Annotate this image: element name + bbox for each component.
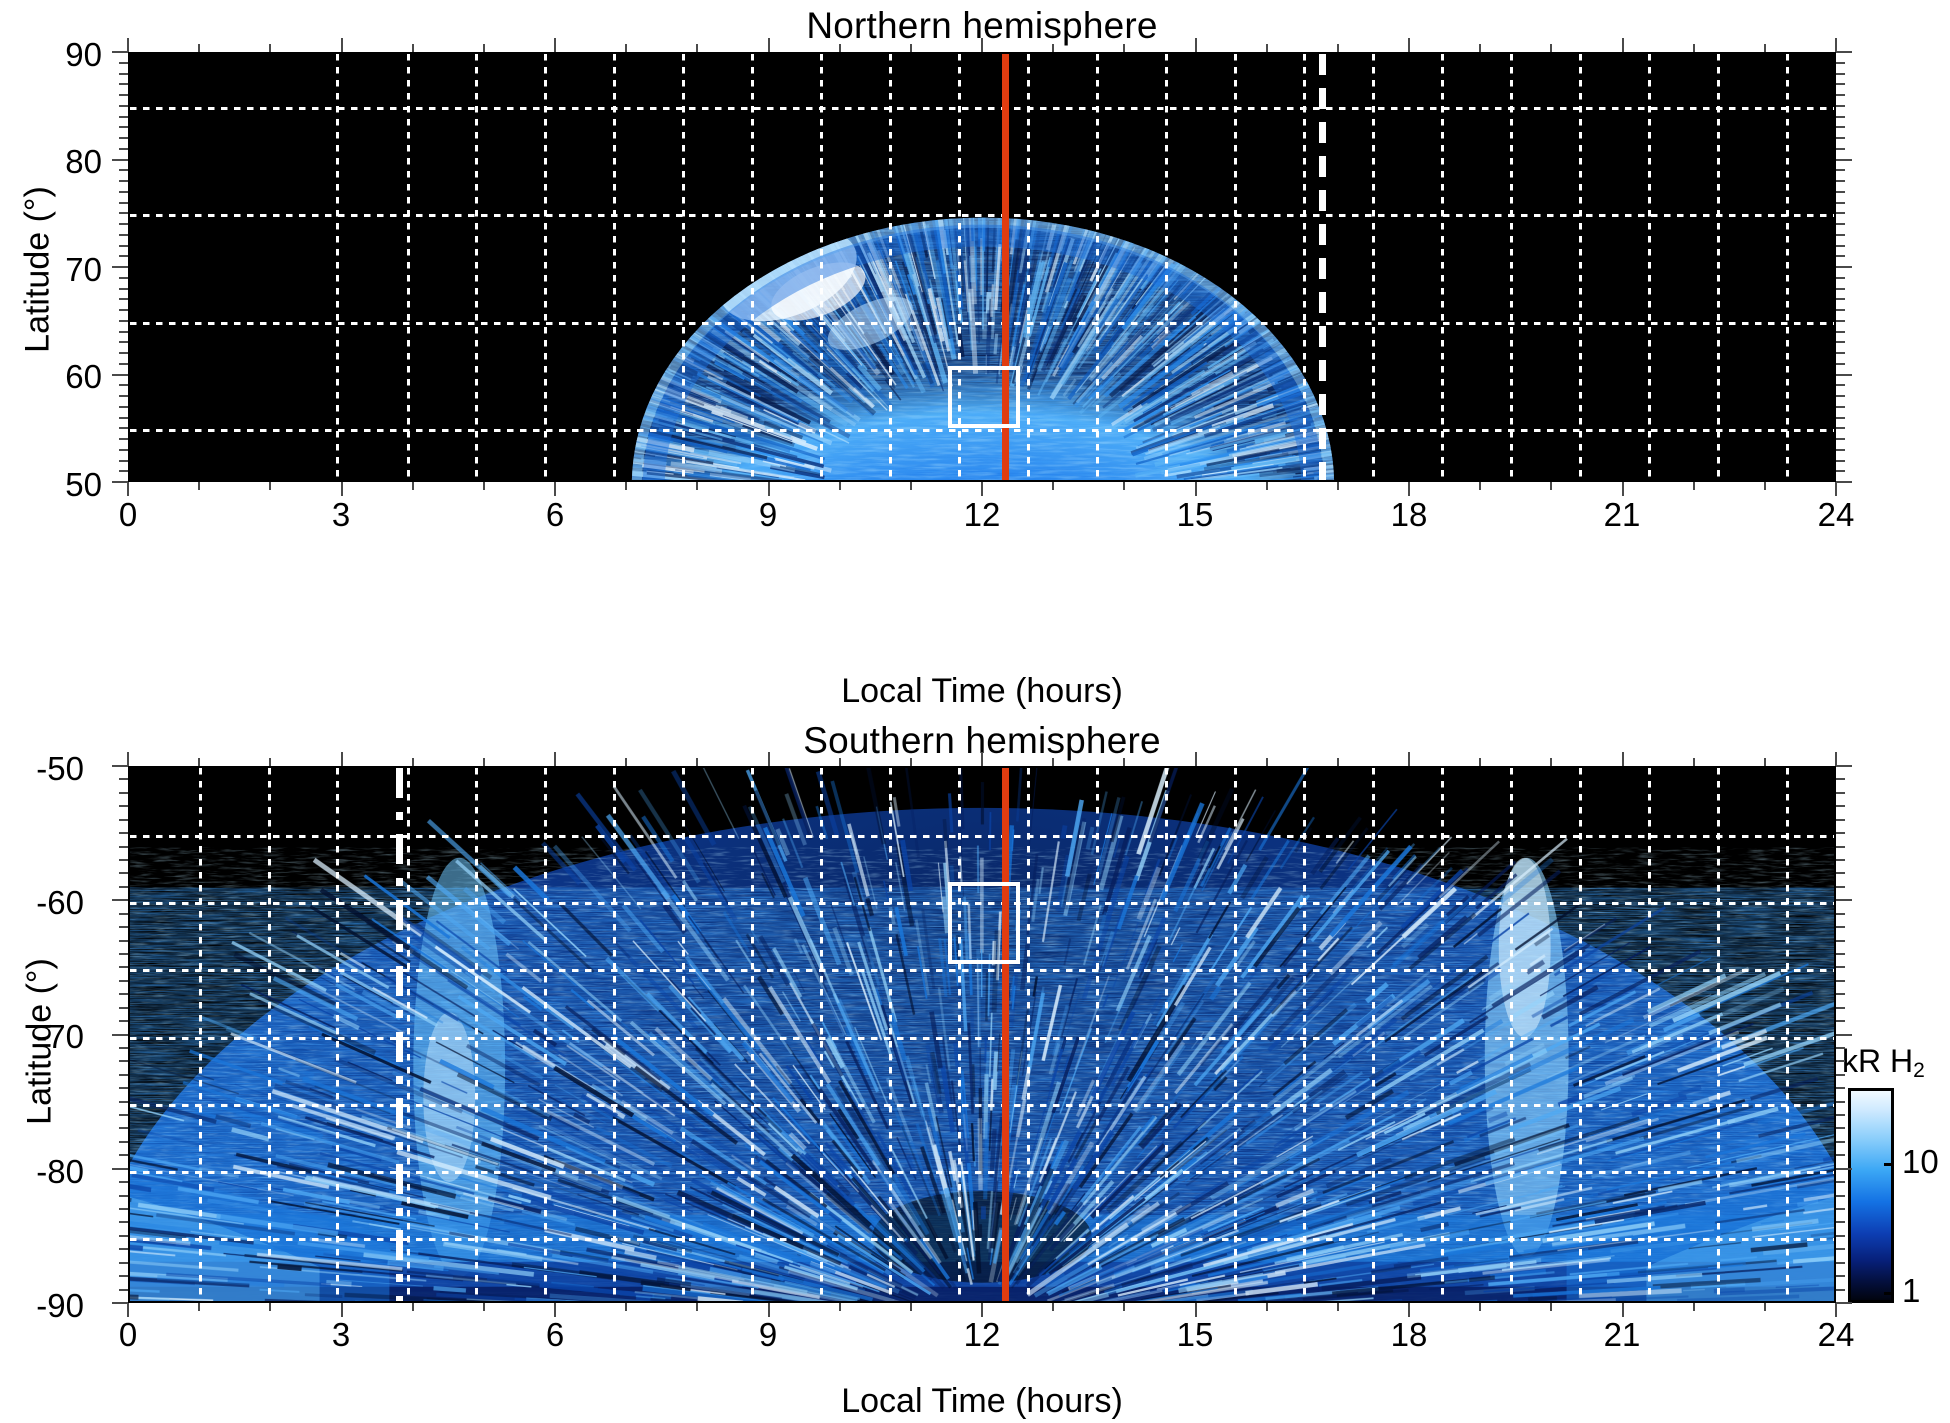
x-tickmark (1693, 1303, 1695, 1311)
plot-area-south[interactable] (128, 766, 1836, 1303)
xtick-label-south: 9 (723, 1316, 813, 1354)
gridline-v (1786, 54, 1789, 480)
x-tickmark-top (412, 44, 414, 52)
x-axis-label-south: Local Time (hours) (128, 1382, 1836, 1421)
x-tickmark (1337, 482, 1339, 490)
x-tickmark-top (1550, 44, 1552, 52)
y-tickmark (119, 255, 128, 257)
y-tickmark (119, 1060, 128, 1062)
y-tickmark-right (1836, 1302, 1852, 1304)
y-tickmark (119, 1195, 128, 1197)
colorbar-title-subscript: 2 (1913, 1059, 1925, 1082)
gridline-v (544, 54, 547, 480)
x-tickmark-top (269, 758, 271, 766)
gridline-v (1234, 768, 1237, 1301)
y-tickmark (119, 363, 128, 365)
x-tickmark (696, 1303, 698, 1311)
x-tickmark (1764, 1303, 1766, 1311)
y-tickmark (119, 1087, 128, 1089)
x-tickmark-top (127, 752, 129, 766)
roi-box-north[interactable] (948, 366, 1020, 428)
colorbar-title: kR H2 (1842, 1043, 1925, 1083)
y-tickmark-right (1836, 406, 1845, 408)
gridline-v (1027, 54, 1030, 480)
x-tickmark-top (625, 44, 627, 52)
x-tickmark-top (198, 758, 200, 766)
y-tickmark (112, 51, 128, 53)
y-tickmark-right (1836, 438, 1845, 440)
gridline-v (1579, 54, 1582, 480)
xtick-label-south: 0 (83, 1316, 173, 1354)
gridline-v (336, 54, 339, 480)
x-tickmark-top (696, 758, 698, 766)
y-tickmark-right (1836, 1262, 1845, 1264)
x-tickmark (1123, 482, 1125, 490)
y-tickmark (119, 1114, 128, 1116)
x-tickmark-top (1693, 758, 1695, 766)
x-tickmark-top (554, 752, 556, 766)
x-tickmark (341, 1303, 343, 1317)
y-tickmark (119, 460, 128, 462)
y-tickmark-right (1836, 1087, 1845, 1089)
y-tickmark-right (1836, 846, 1845, 848)
x-tickmark-top (554, 38, 556, 52)
gridline-v (613, 768, 616, 1301)
y-tickmark (119, 341, 128, 343)
y-tickmark (119, 406, 128, 408)
dashdot-marker-line-south (396, 768, 403, 1303)
gridline-v (1027, 768, 1030, 1301)
y-tickmark-right (1836, 460, 1845, 462)
x-tickmark (981, 1303, 983, 1317)
y-tickmark (119, 1007, 128, 1009)
gridline-v (751, 54, 754, 480)
y-tickmark (119, 105, 128, 107)
y-tickmark-right (1836, 51, 1852, 53)
y-tickmark-right (1836, 792, 1845, 794)
y-tickmark (119, 384, 128, 386)
ytick-label-south: -80 (0, 1153, 84, 1191)
y-tickmark (119, 819, 128, 821)
y-tickmark-right (1836, 298, 1845, 300)
xtick-label-north: 18 (1364, 496, 1454, 534)
y-tickmark-right (1836, 1248, 1845, 1250)
gridline-v (336, 768, 339, 1301)
x-tickmark-top (839, 44, 841, 52)
y-tickmark (119, 872, 128, 874)
gridline-h (130, 1104, 1834, 1107)
x-tickmark (981, 482, 983, 496)
y-tickmark-right (1836, 966, 1845, 968)
y-tickmark-right (1836, 159, 1852, 161)
y-tickmark-right (1836, 980, 1845, 982)
x-tickmark-top (198, 44, 200, 52)
y-tickmark (112, 266, 128, 268)
y-tickmark (119, 1289, 128, 1291)
x-tickmark-top (341, 38, 343, 52)
y-tickmark (112, 765, 128, 767)
y-tickmark-right (1836, 83, 1845, 85)
x-tickmark-top (1052, 758, 1054, 766)
y-tickmark-right (1836, 899, 1852, 901)
y-tickmark-right (1836, 1168, 1852, 1170)
x-tickmark (1764, 482, 1766, 490)
y-tickmark (119, 277, 128, 279)
gridline-v (889, 768, 892, 1301)
y-tickmark (112, 481, 128, 483)
gridline-h (130, 429, 1834, 432)
y-tickmark-right (1836, 1127, 1845, 1129)
y-tickmark (119, 913, 128, 915)
x-tickmark (1550, 482, 1552, 490)
x-tickmark (768, 1303, 770, 1317)
x-tickmark-top (625, 758, 627, 766)
y-tickmark-right (1836, 1020, 1845, 1022)
y-tickmark-right (1836, 1208, 1845, 1210)
y-tickmark-right (1836, 926, 1845, 928)
roi-box-south[interactable] (948, 882, 1020, 964)
y-tickmark-right (1836, 427, 1845, 429)
y-tickmark-right (1836, 913, 1845, 915)
y-tickmark-right (1836, 1007, 1845, 1009)
gridline-v (1096, 54, 1099, 480)
y-tickmark-right (1836, 1114, 1845, 1116)
gridline-v (1648, 54, 1651, 480)
y-tickmark (119, 62, 128, 64)
gridline-v (1510, 54, 1513, 480)
y-tickmark (119, 94, 128, 96)
y-tickmark-right (1836, 223, 1845, 225)
y-tickmark-right (1836, 277, 1845, 279)
y-tickmark (119, 245, 128, 247)
y-tickmark (112, 1302, 128, 1304)
noon-marker-line-south (1002, 768, 1009, 1301)
x-tickmark (1479, 1303, 1481, 1311)
y-tickmark (119, 859, 128, 861)
x-tickmark-top (1622, 38, 1624, 52)
gridline-v (1441, 54, 1444, 480)
y-tickmark-right (1836, 331, 1845, 333)
x-tickmark (269, 1303, 271, 1311)
gridline-v (820, 54, 823, 480)
y-tickmark-right (1836, 886, 1845, 888)
x-tickmark (1195, 1303, 1197, 1317)
x-tickmark (127, 1303, 129, 1317)
xtick-label-north: 3 (296, 496, 386, 534)
x-tickmark-top (1764, 758, 1766, 766)
y-tickmark-right (1836, 1034, 1852, 1036)
gridline-v (407, 768, 410, 1301)
y-tickmark (119, 953, 128, 955)
x-tickmark-top (1337, 44, 1339, 52)
gridline-v (1510, 768, 1513, 1301)
x-tickmark (1693, 482, 1695, 490)
x-tickmark (625, 482, 627, 490)
y-tickmark (119, 1154, 128, 1156)
ytick-label-north: 70 (10, 251, 102, 289)
y-tickmark (119, 352, 128, 354)
x-tickmark-top (269, 44, 271, 52)
gridline-v (1234, 54, 1237, 480)
x-tickmark-top (1408, 752, 1410, 766)
x-tickmark (1408, 482, 1410, 496)
y-tickmark-right (1836, 1195, 1845, 1197)
gridline-h (130, 322, 1834, 325)
y-tickmark (119, 1275, 128, 1277)
x-tickmark-top (1479, 758, 1481, 766)
ytick-label-north: 60 (10, 358, 102, 396)
x-tickmark (198, 482, 200, 490)
y-tickmark (119, 1235, 128, 1237)
x-tickmark (483, 482, 485, 490)
y-tickmark (119, 148, 128, 150)
y-tickmark-right (1836, 191, 1845, 193)
y-tickmark-right (1836, 116, 1845, 118)
x-tickmark (910, 1303, 912, 1311)
xtick-label-north: 15 (1150, 496, 1240, 534)
y-tickmark (119, 940, 128, 942)
y-tickmark (119, 191, 128, 193)
y-tickmark-right (1836, 266, 1852, 268)
y-tickmark-right (1836, 953, 1845, 955)
y-tickmark (112, 1168, 128, 1170)
y-tickmark-right (1836, 341, 1845, 343)
y-tickmark-right (1836, 202, 1845, 204)
y-tickmark-right (1836, 1235, 1845, 1237)
y-tickmark (119, 1181, 128, 1183)
x-tickmark (1052, 482, 1054, 490)
y-tickmark-right (1836, 417, 1845, 419)
x-tickmark (839, 482, 841, 490)
y-tickmark-right (1836, 384, 1845, 386)
x-tickmark-top (1123, 758, 1125, 766)
y-tickmark-right (1836, 320, 1845, 322)
y-tickmark (119, 234, 128, 236)
y-tickmark-right (1836, 62, 1845, 64)
y-tickmark (119, 470, 128, 472)
gridline-v (407, 54, 410, 480)
colorbar-gradient[interactable] (1848, 1088, 1894, 1303)
colorbar-tick-label: 10 (1902, 1143, 1939, 1181)
gridline-h (130, 969, 1834, 972)
x-tickmark-top (341, 752, 343, 766)
x-tickmark-top (483, 758, 485, 766)
y-tickmark-right (1836, 1275, 1845, 1277)
x-tickmark (412, 482, 414, 490)
ytick-label-north: 90 (10, 36, 102, 74)
y-tickmark-right (1836, 1154, 1845, 1156)
y-tickmark (119, 1101, 128, 1103)
gridline-h (130, 835, 1834, 838)
y-tickmark-right (1836, 94, 1845, 96)
y-tickmark-right (1836, 234, 1845, 236)
x-tickmark (1052, 1303, 1054, 1311)
xtick-label-north: 24 (1791, 496, 1881, 534)
y-tickmark-right (1836, 481, 1852, 483)
x-tickmark (554, 482, 556, 496)
x-tickmark-top (1266, 44, 1268, 52)
ytick-label-south: -70 (0, 1018, 84, 1056)
y-tickmark-right (1836, 1289, 1845, 1291)
y-tickmark-right (1836, 872, 1845, 874)
y-tickmark-right (1836, 180, 1845, 182)
y-tickmark-right (1836, 470, 1845, 472)
x-tickmark-top (768, 38, 770, 52)
x-tickmark-top (839, 758, 841, 766)
y-tickmark (119, 1248, 128, 1250)
y-tickmark-right (1836, 309, 1845, 311)
x-tickmark (1622, 1303, 1624, 1317)
x-tickmark (341, 482, 343, 496)
y-tickmark (119, 212, 128, 214)
y-tickmark-right (1836, 255, 1845, 257)
x-tickmark-top (1622, 752, 1624, 766)
ytick-label-south: -50 (0, 750, 84, 788)
y-tickmark (119, 427, 128, 429)
y-tickmark (119, 126, 128, 128)
x-tickmark-top (1835, 38, 1837, 52)
y-tickmark-right (1836, 395, 1845, 397)
gridline-h (130, 214, 1834, 217)
y-tickmark-right (1836, 449, 1845, 451)
x-tickmark (625, 1303, 627, 1311)
ytick-label-south: -60 (0, 884, 84, 922)
y-tickmark (119, 993, 128, 995)
x-tickmark-top (412, 758, 414, 766)
gridline-v (1372, 768, 1375, 1301)
y-tickmark (119, 320, 128, 322)
xtick-label-north: 12 (937, 496, 1027, 534)
x-tickmark (839, 1303, 841, 1311)
y-tickmark-right (1836, 1074, 1845, 1076)
xtick-label-south: 24 (1791, 1316, 1881, 1354)
x-tickmark (1337, 1303, 1339, 1311)
y-tickmark-right (1836, 363, 1845, 365)
gridline-v (682, 768, 685, 1301)
ytick-label-north: 80 (10, 143, 102, 181)
x-tickmark-top (981, 38, 983, 52)
gridline-v (1372, 54, 1375, 480)
y-tickmark-right (1836, 169, 1845, 171)
y-tickmark (119, 1221, 128, 1223)
x-tickmark (1266, 1303, 1268, 1311)
gridline-v (889, 54, 892, 480)
x-tickmark-top (1195, 752, 1197, 766)
y-tickmark (119, 846, 128, 848)
xtick-label-south: 15 (1150, 1316, 1240, 1354)
y-tickmark (119, 438, 128, 440)
y-tickmark (112, 1034, 128, 1036)
gridline-v (958, 768, 961, 1301)
y-tickmark (119, 449, 128, 451)
x-tickmark (483, 1303, 485, 1311)
y-tickmark (119, 1262, 128, 1264)
x-tickmark-top (1835, 752, 1837, 766)
x-tickmark (1408, 1303, 1410, 1317)
y-tickmark (119, 137, 128, 139)
x-tickmark-top (1693, 44, 1695, 52)
y-tickmark (119, 180, 128, 182)
y-tickmark (119, 805, 128, 807)
y-tickmark (119, 169, 128, 171)
y-tickmark-right (1836, 148, 1845, 150)
y-tickmark-right (1836, 212, 1845, 214)
gridline-v (1303, 768, 1306, 1301)
gridline-v (1303, 54, 1306, 480)
y-tickmark-right (1836, 126, 1845, 128)
dashed-marker-line-north-right (1319, 54, 1326, 482)
x-tickmark (1195, 482, 1197, 496)
x-tickmark (1835, 482, 1837, 496)
gridline-v (1579, 768, 1582, 1301)
y-tickmark (119, 1047, 128, 1049)
x-tickmark-top (1052, 44, 1054, 52)
x-tickmark (554, 1303, 556, 1317)
gridline-v (268, 768, 271, 1301)
y-tickmark-right (1836, 1060, 1845, 1062)
y-tickmark (119, 331, 128, 333)
y-tickmark (112, 899, 128, 901)
gridline-v (544, 768, 547, 1301)
x-tickmark-top (696, 44, 698, 52)
gridline-v (1096, 768, 1099, 1301)
y-tickmark-right (1836, 105, 1845, 107)
gridline-v (1717, 768, 1720, 1301)
x-tickmark-top (127, 38, 129, 52)
x-tickmark-top (1550, 758, 1552, 766)
y-tickmark (119, 298, 128, 300)
x-tickmark (198, 1303, 200, 1311)
gridline-v (751, 768, 754, 1301)
y-tickmark-right (1836, 819, 1845, 821)
gridline-v (1786, 768, 1789, 1301)
gridline-h (130, 1238, 1834, 1241)
y-tickmark (119, 886, 128, 888)
y-tickmark-right (1836, 1181, 1845, 1183)
x-tickmark-top (483, 44, 485, 52)
x-axis-label-north: Local Time (hours) (128, 672, 1836, 711)
x-tickmark (269, 482, 271, 490)
gridline-v (1165, 768, 1168, 1301)
y-tickmark (119, 417, 128, 419)
y-tickmark-right (1836, 1047, 1845, 1049)
y-tickmark (119, 792, 128, 794)
y-tickmark-right (1836, 288, 1845, 290)
y-tickmark (119, 778, 128, 780)
colorbar-tick-label: 1 (1902, 1272, 1920, 1310)
colorbar-wrapper[interactable] (1848, 1088, 1894, 1303)
y-tickmark (119, 1208, 128, 1210)
x-tickmark (127, 482, 129, 496)
gridline-v (1648, 768, 1651, 1301)
y-tickmark-right (1836, 778, 1845, 780)
plot-area-north[interactable] (128, 52, 1836, 482)
x-tickmark (1123, 1303, 1125, 1311)
y-tickmark-right (1836, 832, 1845, 834)
gridline-v (820, 768, 823, 1301)
gridline-v (613, 54, 616, 480)
xtick-label-north: 0 (83, 496, 173, 534)
x-tickmark (1622, 482, 1624, 496)
y-tickmark-right (1836, 1221, 1845, 1223)
xtick-label-north: 9 (723, 496, 813, 534)
x-tickmark (1835, 1303, 1837, 1317)
y-tickmark-right (1836, 73, 1845, 75)
gridline-v (1441, 768, 1444, 1301)
x-tickmark (1266, 482, 1268, 490)
y-tickmark-right (1836, 1141, 1845, 1143)
ytick-label-south: -90 (0, 1287, 84, 1325)
